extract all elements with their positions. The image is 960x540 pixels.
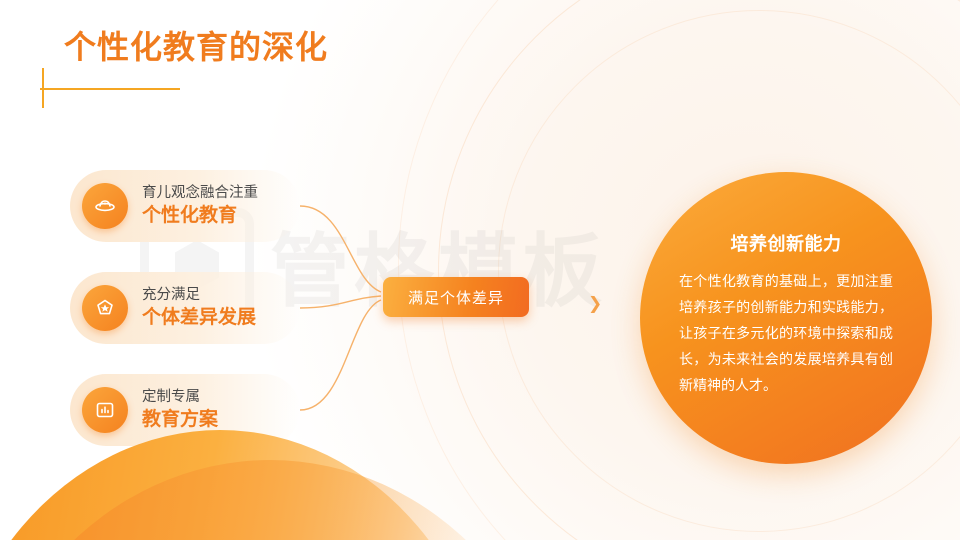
title-accent-rule xyxy=(40,88,180,90)
feature-card-2[interactable]: 充分满足 个体差异发展 xyxy=(70,272,300,344)
feature-card-2-line2: 个体差异发展 xyxy=(142,306,256,330)
slide-canvas: 管格模板 个性化教育的深化 育儿观念融合注重 个性化教育 xyxy=(0,0,960,540)
feature-card-1[interactable]: 育儿观念融合注重 个性化教育 xyxy=(70,170,300,242)
star-badge-icon xyxy=(82,285,128,331)
highlight-title: 培养创新能力 xyxy=(731,230,842,256)
page-title: 个性化教育的深化 xyxy=(64,22,328,68)
feature-card-1-line2: 个性化教育 xyxy=(142,204,258,228)
bar-chart-icon xyxy=(82,387,128,433)
highlight-body: 在个性化教育的基础上，更加注重培养孩子的创新能力和实践能力，让孩子在多元化的环境… xyxy=(679,269,893,398)
ufo-icon xyxy=(82,183,128,229)
feature-card-1-line1: 育儿观念融合注重 xyxy=(142,184,258,202)
chevron-right-icon[interactable]: ❯ xyxy=(588,294,602,314)
highlight-circle: 培养创新能力 在个性化教育的基础上，更加注重培养孩子的创新能力和实践能力，让孩子… xyxy=(640,172,932,464)
center-pill-label: 满足个体差异 xyxy=(408,287,504,308)
feature-card-3-line1: 定制专属 xyxy=(142,388,218,406)
feature-card-3-line2: 教育方案 xyxy=(142,408,218,432)
feature-card-2-line1: 充分满足 xyxy=(142,286,256,304)
center-pill[interactable]: 满足个体差异 xyxy=(383,277,529,317)
